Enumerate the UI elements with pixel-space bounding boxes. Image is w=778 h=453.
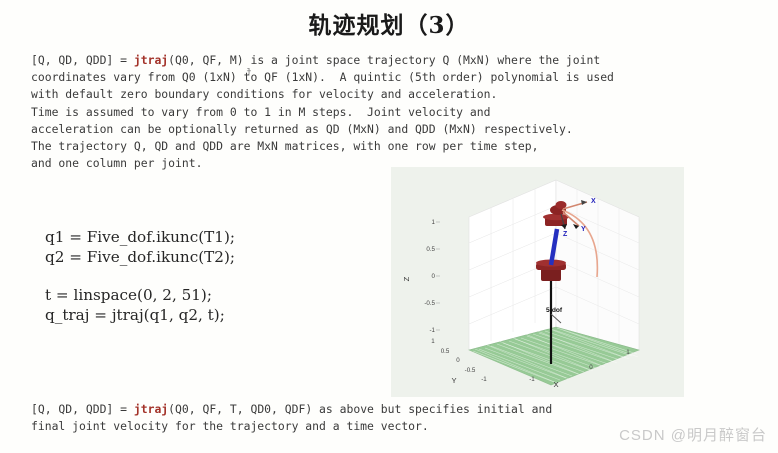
doc-top-body: (Q0, QF, M) is a joint space trajectory … [31,53,614,170]
svg-text:1: 1 [626,349,630,356]
svg-text:-1: -1 [429,327,435,334]
svg-text:-0.5: -0.5 [424,300,435,307]
svg-text:1: 1 [431,338,435,345]
doc-bottom-function-name: jtraj [134,402,168,416]
page-title: 轨迹规划（3） [0,6,778,40]
csdn-watermark: CSDN @明月醉窗台 [619,424,767,445]
z-axis-ticks: 1 0.5 0 -0.5 -1 [424,219,440,334]
doc-top-prefix: [Q, QD, QDD] = [31,53,134,67]
code-line-4: q_traj = jtraj(q1, q2, t); [45,306,225,324]
svg-text:-1: -1 [481,376,487,383]
svg-text:0.5: 0.5 [441,348,450,355]
svg-text:0: 0 [589,364,593,371]
matlab-code-block: q1 = Five_dof.ikunc(T1); q2 = Five_dof.i… [45,228,235,325]
matlab-3d-plot-figure: 1 0.5 0 -0.5 -1 Z 1 0.5 0 -0. [391,167,684,397]
svg-text:-0.5: -0.5 [465,367,476,374]
svg-text:0.5: 0.5 [426,246,435,253]
code-line-2: q2 = Five_dof.ikunc(T2); [45,248,235,266]
doc-bottom-prefix: [Q, QD, QDD] = [31,402,134,416]
svg-text:1: 1 [432,219,436,226]
jtraj-doc-bottom: [Q, QD, QDD] = jtraj(Q0, QF, T, QD0, QDF… [31,401,552,435]
plot-svg: 1 0.5 0 -0.5 -1 Z 1 0.5 0 -0. [391,167,684,397]
z-axis-label: Z [402,276,411,281]
scan-artifact: ɟ [246,66,251,72]
doc-top-function-name: jtraj [134,53,168,67]
tool-frame-y-label: Y [581,226,586,233]
code-blank-line [45,267,235,286]
svg-text:-1: -1 [529,376,535,383]
code-line-1: q1 = Five_dof.ikunc(T1); [45,228,235,246]
tool-frame-z-label: Z [563,231,568,238]
x-axis-label: X [553,380,558,389]
tool-frame-x-label: X [591,198,596,205]
jtraj-doc-top: [Q, QD, QDD] = jtraj(Q0, QF, M) is a joi… [31,52,614,172]
code-line-3: t = linspace(0, 2, 51); [45,286,212,304]
svg-text:0: 0 [432,273,436,280]
slide-canvas: 轨迹规划（3） [Q, QD, QDD] = jtraj(Q0, QF, M) … [0,0,778,453]
svg-text:0: 0 [456,357,460,364]
plot-axes: 1 0.5 0 -0.5 -1 Z 1 0.5 0 -0. [391,167,684,397]
y-axis-label: Y [451,376,456,385]
robot-name-label: 5-dof [546,307,563,314]
